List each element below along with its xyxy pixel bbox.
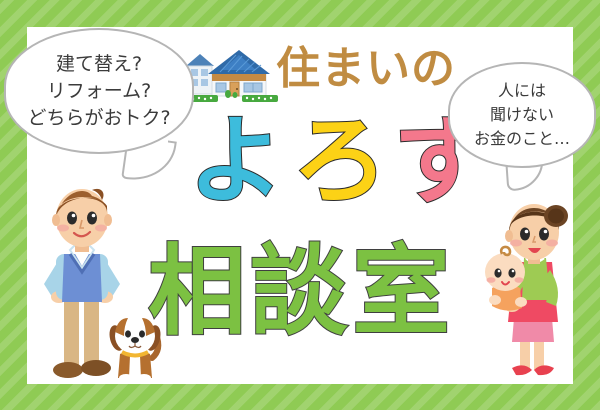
bubble-right-line-1: 人には bbox=[498, 79, 546, 103]
poster-banner: 住まいの よろず 相談室 建て替え? リフォーム? どちらがおトク? 人には 聞… bbox=[0, 0, 600, 410]
title-line-sumaino: 住まいの bbox=[276, 46, 456, 92]
speech-bubble-right-text: 人には 聞けない お金のこと… bbox=[448, 62, 596, 168]
speech-bubble-left: 建て替え? リフォーム? どちらがおトク? bbox=[4, 28, 194, 154]
title-char-yo: よ bbox=[188, 105, 292, 217]
bubble-left-line-3: どちらがおトク? bbox=[27, 105, 170, 132]
bubble-right-line-3: お金のこと… bbox=[474, 127, 570, 151]
bubble-left-line-1: 建て替え? bbox=[56, 51, 142, 78]
title-char-ro: ろ bbox=[292, 105, 396, 217]
speech-bubble-right: 人には 聞けない お金のこと… bbox=[448, 62, 596, 168]
bubble-right-line-2: 聞けない bbox=[490, 103, 554, 127]
dog-illustration bbox=[104, 312, 166, 384]
bubble-left-line-2: リフォーム? bbox=[47, 78, 152, 105]
title-line-soudanshitsu: 相談室 bbox=[148, 242, 454, 342]
speech-bubble-left-text: 建て替え? リフォーム? どちらがおトク? bbox=[4, 28, 194, 154]
woman-with-baby-illustration bbox=[478, 196, 574, 384]
